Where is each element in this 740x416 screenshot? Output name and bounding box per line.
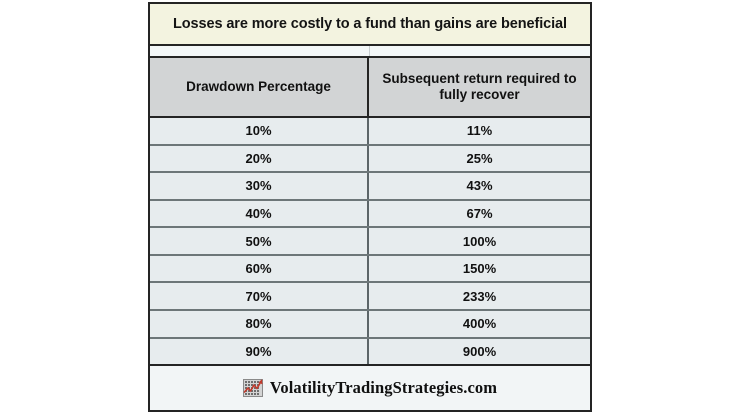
cell-recovery: 67%: [369, 201, 590, 227]
cell-drawdown: 90%: [150, 339, 369, 365]
cell-drawdown: 60%: [150, 256, 369, 282]
table-row: 90% 900%: [150, 339, 590, 367]
drawdown-recovery-table: Losses are more costly to a fund than ga…: [148, 2, 592, 412]
cell-recovery: 43%: [369, 173, 590, 199]
cell-recovery: 11%: [369, 118, 590, 144]
cell-drawdown: 40%: [150, 201, 369, 227]
table-spacer-strip: [150, 46, 590, 58]
table-row: 30% 43%: [150, 173, 590, 201]
cell-recovery: 233%: [369, 283, 590, 309]
page-title: Losses are more costly to a fund than ga…: [163, 16, 577, 33]
cell-recovery: 900%: [369, 339, 590, 365]
table-footer: VolatilityTradingStrategies.com: [150, 366, 590, 410]
table-row: 10% 11%: [150, 118, 590, 146]
cell-recovery: 100%: [369, 228, 590, 254]
brand-label: VolatilityTradingStrategies.com: [270, 378, 497, 398]
screenshot-canvas: Losses are more costly to a fund than ga…: [0, 0, 740, 416]
cell-drawdown: 70%: [150, 283, 369, 309]
table-row: 70% 233%: [150, 283, 590, 311]
cell-drawdown: 10%: [150, 118, 369, 144]
cell-recovery: 400%: [369, 311, 590, 337]
cell-drawdown: 30%: [150, 173, 369, 199]
table-title-band: Losses are more costly to a fund than ga…: [150, 4, 590, 46]
table-row: 20% 25%: [150, 146, 590, 174]
table-header-row: Drawdown Percentage Subsequent return re…: [150, 58, 590, 118]
cell-drawdown: 50%: [150, 228, 369, 254]
table-body: 10% 11% 20% 25% 30% 43% 40% 67% 50% 100%…: [150, 118, 590, 366]
spacer-column-divider: [369, 46, 370, 56]
chart-trend-up-icon: [243, 379, 263, 397]
column-header-recovery: Subsequent return required to fully reco…: [369, 58, 590, 116]
table-row: 50% 100%: [150, 228, 590, 256]
table-row: 40% 67%: [150, 201, 590, 229]
cell-drawdown: 80%: [150, 311, 369, 337]
column-header-drawdown: Drawdown Percentage: [150, 58, 369, 116]
table-row: 60% 150%: [150, 256, 590, 284]
cell-recovery: 150%: [369, 256, 590, 282]
cell-recovery: 25%: [369, 146, 590, 172]
table-row: 80% 400%: [150, 311, 590, 339]
cell-drawdown: 20%: [150, 146, 369, 172]
